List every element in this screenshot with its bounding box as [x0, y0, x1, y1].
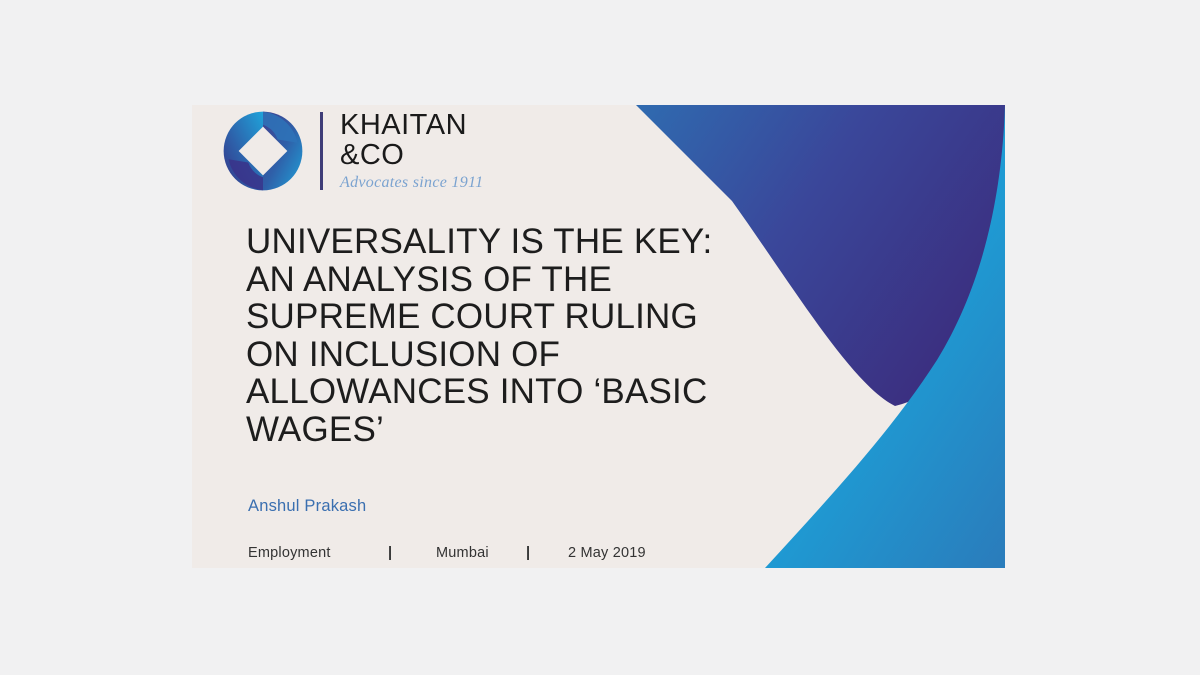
- logo-divider: [320, 112, 323, 190]
- meta-separator-1: |: [388, 545, 436, 561]
- slide-meta-line: Employment | Mumbai | 2 May 2019: [248, 545, 646, 561]
- meta-separator-2: |: [526, 545, 568, 561]
- firm-wordmark: KHAITAN &CO Advocates since 1911: [340, 108, 483, 193]
- brand-logo-lockup: KHAITAN &CO Advocates since 1911: [222, 108, 483, 193]
- slide-title: UNIVERSALITY IS THE KEY: AN ANALYSIS OF …: [246, 223, 726, 448]
- firm-name-line2: &CO: [340, 140, 483, 170]
- meta-city: Mumbai: [436, 545, 526, 561]
- firm-tagline: Advocates since 1911: [340, 173, 483, 193]
- cyan-arc-shape: [765, 105, 1005, 568]
- meta-practice-area: Employment: [248, 545, 388, 561]
- meta-date: 2 May 2019: [568, 545, 646, 561]
- title-slide-card: KHAITAN &CO Advocates since 1911 UNIVERS…: [192, 105, 1005, 568]
- author-name: Anshul Prakash: [248, 497, 366, 516]
- firm-name-line1: KHAITAN: [340, 110, 483, 140]
- khaitan-ring-logo-icon: [222, 110, 304, 192]
